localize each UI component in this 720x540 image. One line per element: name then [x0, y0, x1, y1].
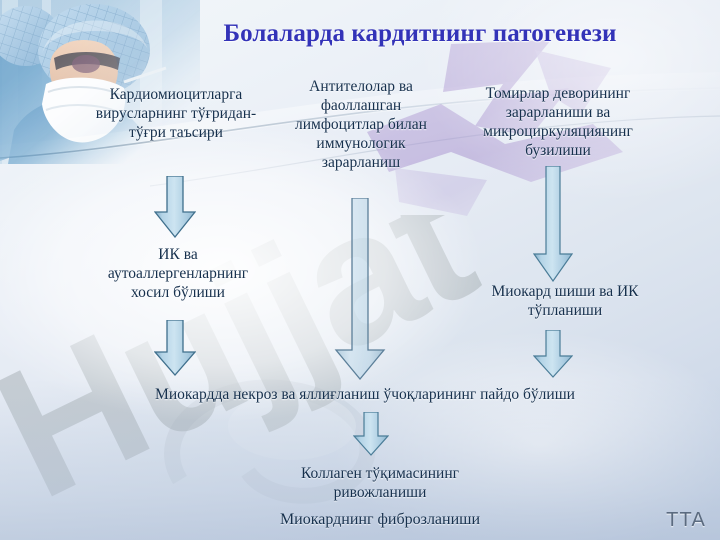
brand-logo: TTA	[666, 509, 706, 532]
page-title: Болаларда кардитнинг патогенези	[170, 20, 670, 48]
arrow-miokard-shishi-to-nekroz	[533, 330, 573, 378]
arrow-tomirlar-to-miokard-shishi	[533, 166, 573, 282]
node-miokard-shishi: Миокард шиши ва ИК тўпланиши	[470, 283, 660, 321]
node-kollagen: Коллаген тўқимасининг ривожланиши	[255, 465, 505, 503]
node-kardiomiocit: Кардиомиоцитларга вирусларнинг тўғридан-…	[86, 86, 266, 143]
node-antitelo: Антителолар ва фаоллашган лимфоцитлар би…	[292, 78, 430, 173]
node-fibroz: Миокарднинг фиброзланиши	[230, 510, 530, 530]
node-ik-autoallergen: ИК ва аутоаллергенларнинг хосил бўлиши	[88, 246, 268, 303]
arrow-kardiomiocit-to-ik	[154, 176, 196, 238]
arrow-nekroz-to-kollagen	[353, 412, 389, 456]
node-nekroz: Миокардда некроз ва яллиғланиш ўчоқларин…	[95, 386, 635, 405]
slide-canvas: Hujjat Болаларда кардитнинг патогенези К…	[0, 0, 720, 540]
arrow-ik-to-nekroz	[154, 320, 196, 376]
arrow-antitelo-to-nekroz	[334, 198, 386, 380]
node-tomirlar: Томирлар деворининг зарарланиши ва микро…	[452, 85, 664, 161]
